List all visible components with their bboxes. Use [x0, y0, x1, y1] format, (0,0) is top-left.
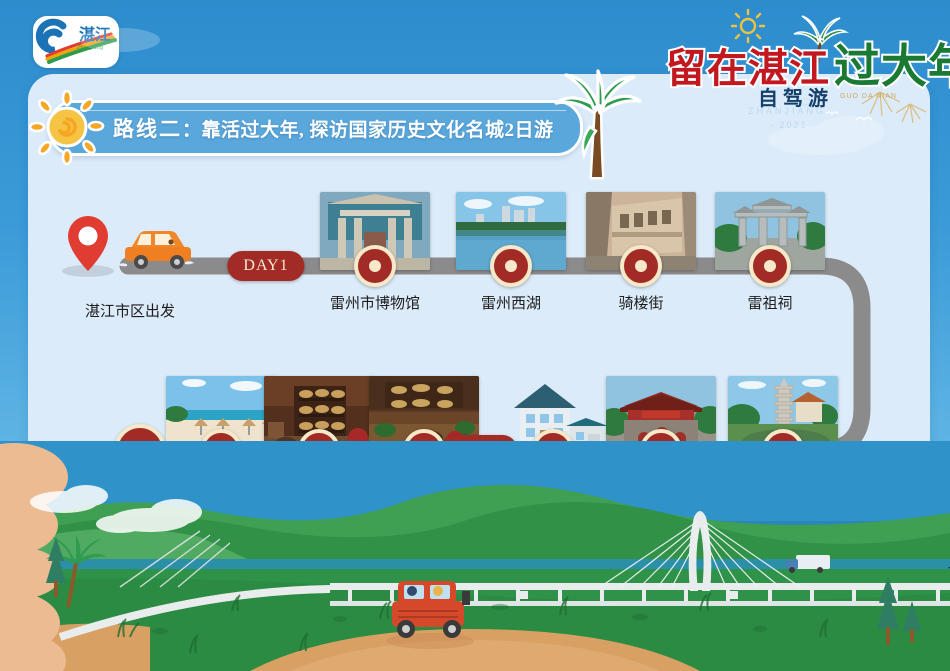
route-title-banner: 路线二：靠活过大年, 探访国家历史文化名城2日游 — [48, 100, 583, 156]
banner-pill: 路线二：靠活过大年, 探访国家历史文化名城2日游 — [48, 100, 583, 156]
banner-hairline — [65, 110, 566, 111]
stop-origin[interactable]: 湛江市区出发 — [55, 206, 205, 321]
origin-icons — [55, 206, 205, 278]
car-icon — [55, 206, 205, 280]
palm-tree-icon — [550, 69, 646, 189]
stop-label: 骑楼街 — [566, 292, 716, 313]
banner-colon: ： — [182, 120, 202, 141]
sun-icon — [29, 90, 105, 166]
stop-label: 雷州市博物馆 — [300, 292, 450, 313]
bottom-landscape-scene — [0, 441, 950, 671]
route-number-label: 路线二 — [113, 117, 182, 141]
route-node[interactable] — [490, 245, 532, 287]
banner-title-text: 路线二：靠活过大年, 探访国家历史文化名城2日游 — [113, 113, 554, 143]
infographic-canvas: 路线二：靠活过大年, 探访国家历史文化名城2日游 — [0, 0, 950, 671]
hero-year-label: - 2021 - — [770, 120, 817, 130]
festival-hero-logo: 留在湛江过大年 自驾游 ZHANJIANG - 2021 - GUO DA NI… — [644, 8, 944, 128]
stop-label: 雷祖祠 — [695, 292, 845, 313]
logo-chinese-text: 湛江 — [79, 26, 111, 44]
route-node[interactable] — [620, 245, 662, 287]
seagull-decor — [826, 112, 872, 120]
hero-english-label: ZHANJIANG — [748, 106, 826, 116]
hero-side-pinyin: GUO DA NIAN — [840, 92, 897, 101]
stop-label: 湛江市区出发 — [55, 300, 205, 321]
route-node[interactable] — [749, 245, 791, 287]
hero-title-green: 过大年 — [834, 41, 950, 92]
logo-pinyin-text: Zhanjiang — [77, 45, 103, 51]
stop-label: 雷州西湖 — [436, 292, 586, 313]
zhanjiang-tourism-logo[interactable]: 湛江 Zhanjiang — [33, 16, 119, 68]
day1-badge[interactable]: DAY1 — [227, 251, 304, 281]
banner-subtitle: 靠活过大年, 探访国家历史文化名城2日游 — [202, 120, 554, 141]
route-node[interactable] — [354, 245, 396, 287]
